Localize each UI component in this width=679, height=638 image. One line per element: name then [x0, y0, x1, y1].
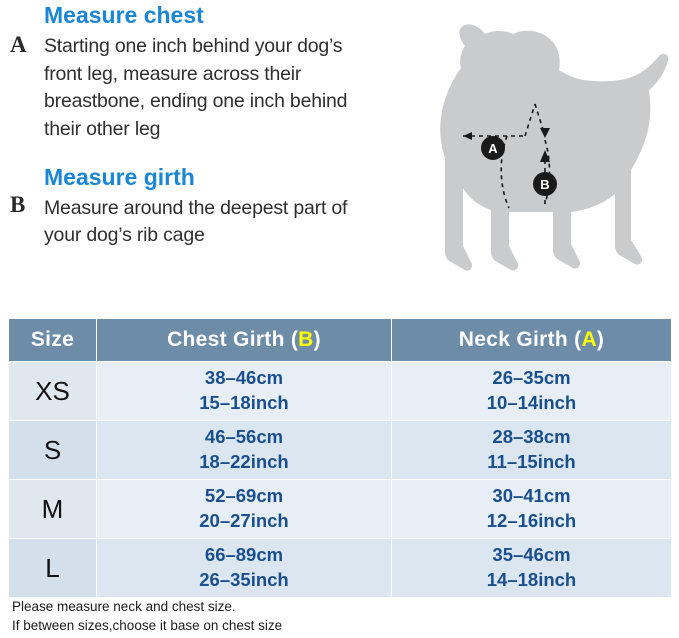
table-row: M 52–69cm 20–27inch 30–41cm 12–16inch	[9, 480, 672, 539]
footer-note-1: Please measure neck and chest size.	[12, 598, 282, 617]
table-header: Size Chest Girth (B) Neck Girth (A)	[9, 319, 672, 362]
cell-size: L	[9, 539, 97, 598]
table-body: XS 38–46cm 15–18inch 26–35cm 10–14inch S…	[9, 362, 672, 598]
instruction-letter-a: A	[10, 32, 27, 58]
header-chest-suffix: )	[314, 328, 321, 351]
header-neck-suffix: )	[597, 328, 604, 351]
marker-b-label: B	[540, 177, 549, 192]
dog-diagram: A B	[359, 8, 679, 308]
instruction-block-girth: B Measure girth Measure around the deepe…	[0, 164, 372, 250]
dog-illustration-svg: A B	[359, 8, 679, 308]
cell-chest-cm: 38–46cm	[97, 366, 391, 391]
table-row: L 66–89cm 26–35inch 35–46cm 14–18inch	[9, 539, 672, 598]
cell-neck-inch: 10–14inch	[392, 391, 671, 416]
instructions-and-diagram: A Measure chest Starting one inch behind…	[0, 0, 679, 312]
cell-neck: 35–46cm 14–18inch	[392, 539, 672, 598]
size-chart-table: Size Chest Girth (B) Neck Girth (A) XS 3…	[8, 318, 672, 598]
table-row: XS 38–46cm 15–18inch 26–35cm 10–14inch	[9, 362, 672, 421]
instructions-panel: A Measure chest Starting one inch behind…	[0, 0, 372, 250]
instruction-title-girth: Measure girth	[44, 164, 372, 191]
cell-size: S	[9, 421, 97, 480]
cell-neck-inch: 14–18inch	[392, 568, 671, 593]
marker-a-icon: A	[481, 136, 505, 160]
cell-neck: 28–38cm 11–15inch	[392, 421, 672, 480]
marker-a-label: A	[488, 141, 498, 156]
cell-neck: 30–41cm 12–16inch	[392, 480, 672, 539]
instruction-text-chest: Starting one inch behind your dog’s fron…	[44, 33, 372, 144]
table-header-row: Size Chest Girth (B) Neck Girth (A)	[9, 319, 672, 362]
header-chest-girth: Chest Girth (B)	[97, 319, 392, 362]
footer-note-2: If between sizes,choose it base on chest…	[12, 617, 282, 636]
cell-chest: 52–69cm 20–27inch	[97, 480, 392, 539]
header-neck-prefix: Neck Girth (	[459, 328, 582, 351]
cell-chest-cm: 46–56cm	[97, 425, 391, 450]
cell-chest-inch: 26–35inch	[97, 568, 391, 593]
cell-chest-inch: 15–18inch	[97, 391, 391, 416]
cell-chest: 66–89cm 26–35inch	[97, 539, 392, 598]
cell-neck-cm: 28–38cm	[392, 425, 671, 450]
table-row: S 46–56cm 18–22inch 28–38cm 11–15inch	[9, 421, 672, 480]
instruction-title-chest: Measure chest	[44, 2, 372, 29]
header-chest-accent: B	[298, 328, 313, 351]
instruction-block-chest: A Measure chest Starting one inch behind…	[0, 2, 372, 144]
marker-b-icon: B	[533, 172, 557, 196]
cell-neck-inch: 12–16inch	[392, 509, 671, 534]
cell-neck-cm: 35–46cm	[392, 543, 671, 568]
cell-size: XS	[9, 362, 97, 421]
header-neck-girth: Neck Girth (A)	[392, 319, 672, 362]
instruction-text-girth: Measure around the deepest part of your …	[44, 195, 372, 250]
header-size: Size	[9, 319, 97, 362]
cell-neck-cm: 26–35cm	[392, 366, 671, 391]
header-chest-prefix: Chest Girth (	[167, 328, 298, 351]
header-neck-accent: A	[581, 328, 596, 351]
footer-notes: Please measure neck and chest size. If b…	[12, 598, 282, 635]
instruction-letter-b: B	[10, 192, 25, 218]
cell-neck-inch: 11–15inch	[392, 450, 671, 475]
cell-chest-inch: 20–27inch	[97, 509, 391, 534]
cell-neck: 26–35cm 10–14inch	[392, 362, 672, 421]
cell-chest: 38–46cm 15–18inch	[97, 362, 392, 421]
cell-chest-cm: 52–69cm	[97, 484, 391, 509]
cell-neck-cm: 30–41cm	[392, 484, 671, 509]
cell-chest-inch: 18–22inch	[97, 450, 391, 475]
cell-size: M	[9, 480, 97, 539]
cell-chest-cm: 66–89cm	[97, 543, 391, 568]
dog-silhouette-icon	[440, 24, 668, 270]
cell-chest: 46–56cm 18–22inch	[97, 421, 392, 480]
